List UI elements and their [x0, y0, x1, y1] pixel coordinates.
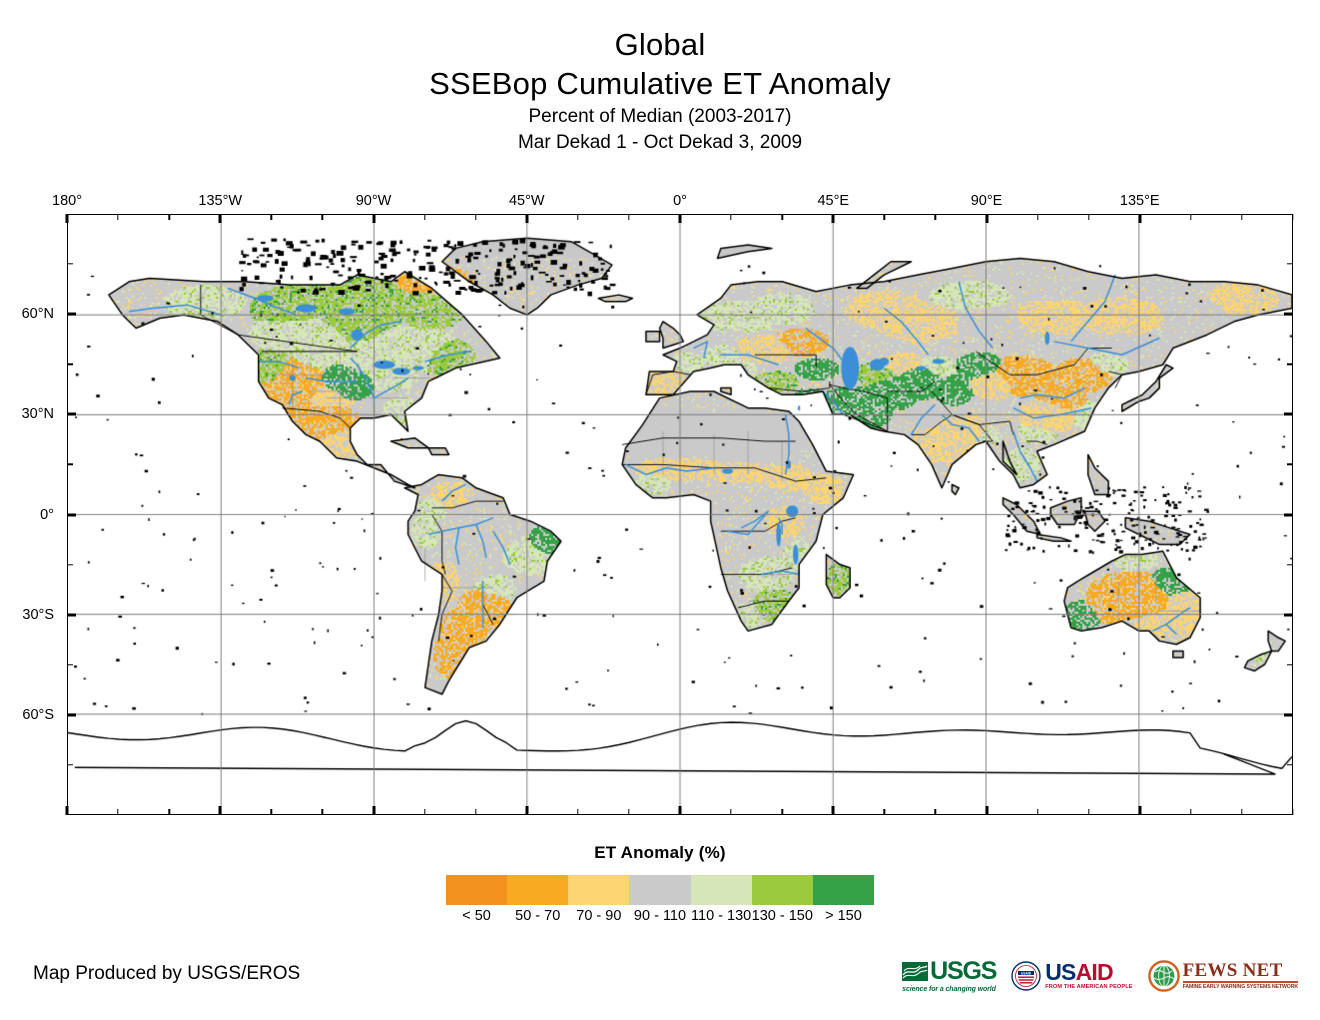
legend-label-2: 70 - 90 [576, 908, 621, 924]
legend-swatch-3 [629, 875, 691, 905]
lon-minor-tick [1190, 809, 1191, 815]
usaid-tagline: FROM THE AMERICAN PEOPLE [1045, 985, 1132, 991]
page-title-line2: SSEBop Cumulative ET Anomaly [0, 64, 1320, 104]
lon-major-tick [219, 806, 222, 815]
legend-label-3: 90 - 110 [634, 908, 686, 924]
lon-label-0: 180° [52, 193, 82, 209]
lon-major-tick [832, 214, 835, 223]
lat-minor-tick [1287, 664, 1293, 665]
page-subtitle-period: Percent of Median (2003-2017) [0, 104, 1320, 130]
lon-label-5: 45°E [817, 193, 849, 209]
legend-swatch-5 [752, 875, 814, 905]
lon-minor-tick [628, 214, 629, 220]
lon-minor-tick [628, 809, 629, 815]
legend-swatch-1 [507, 875, 569, 905]
lon-minor-tick [475, 214, 476, 220]
fews-net-tagline: FAMINE EARLY WARNING SYSTEMS NETWORK [1183, 985, 1298, 990]
lat-major-tick [67, 613, 76, 616]
page-subtitle-dates: Mar Dekad 1 - Oct Dekad 3, 2009 [0, 130, 1320, 155]
lon-minor-tick [271, 809, 272, 815]
lat-minor-tick [67, 764, 73, 765]
svg-text:USAID: USAID [1021, 971, 1032, 975]
legend-title: ET Anomaly (%) [0, 843, 1320, 863]
lon-minor-tick [935, 809, 936, 815]
map-frame[interactable] [67, 214, 1293, 815]
agency-logos: USGS science for a changing world USAID … [902, 955, 1298, 997]
lon-minor-tick [1292, 809, 1293, 815]
usaid-logo[interactable]: USAID USAID FROM THE AMERICAN PEOPLE [1011, 960, 1132, 992]
legend-swatch-2 [568, 875, 630, 905]
lon-minor-tick [781, 809, 782, 815]
lon-major-tick [525, 214, 528, 223]
lon-minor-tick [168, 809, 169, 815]
legend-swatch-6 [813, 875, 875, 905]
lon-minor-tick [1292, 214, 1293, 220]
lon-major-tick [372, 214, 375, 223]
lon-minor-tick [730, 214, 731, 220]
fews-net-logo[interactable]: FEWS NET FAMINE EARLY WARNING SYSTEMS NE… [1148, 960, 1298, 992]
lon-minor-tick [117, 214, 118, 220]
lat-major-tick [1284, 713, 1293, 716]
lon-label-1: 135°W [198, 193, 242, 209]
lon-minor-tick [424, 809, 425, 815]
lat-minor-tick [67, 664, 73, 665]
legend-label-0: < 50 [462, 908, 491, 924]
map-credit: Map Produced by USGS/EROS [33, 963, 300, 985]
lat-major-tick [1284, 313, 1293, 316]
lat-major-tick [67, 413, 76, 416]
lat-label-1: 30°N [0, 406, 54, 422]
lon-major-tick [219, 214, 222, 223]
lat-minor-tick [67, 263, 73, 264]
title-block: Global SSEBop Cumulative ET Anomaly Perc… [0, 26, 1320, 155]
usgs-wave-icon [902, 962, 928, 981]
lon-minor-tick [1190, 214, 1191, 220]
lon-label-6: 90°E [971, 193, 1003, 209]
lon-minor-tick [271, 214, 272, 220]
lon-major-tick [1138, 806, 1141, 815]
lat-minor-tick [1287, 364, 1293, 365]
lat-major-tick [1284, 613, 1293, 616]
lon-minor-tick [322, 214, 323, 220]
lon-minor-tick [1088, 809, 1089, 815]
lon-label-2: 90°W [356, 193, 392, 209]
lon-minor-tick [884, 214, 885, 220]
lon-minor-tick [1037, 214, 1038, 220]
lat-label-2: 0° [0, 507, 54, 523]
lat-minor-tick [67, 464, 73, 465]
lon-minor-tick [935, 214, 936, 220]
lat-label-3: 30°S [0, 607, 54, 623]
lon-major-tick [1138, 214, 1141, 223]
lat-label-0: 60°N [0, 306, 54, 322]
legend: ET Anomaly (%) < 5050 - 7070 - 9090 - 11… [0, 843, 1320, 928]
lat-major-tick [67, 513, 76, 516]
lon-minor-tick [730, 809, 731, 815]
lat-label-4: 60°S [0, 707, 54, 723]
legend-label-6: > 150 [825, 908, 862, 924]
lon-major-tick [525, 806, 528, 815]
legend-label-5: 130 - 150 [752, 908, 813, 924]
legend-swatch-0 [446, 875, 508, 905]
lat-minor-tick [1287, 764, 1293, 765]
legend-class-labels: < 5050 - 7070 - 9090 - 110110 - 130130 -… [446, 908, 874, 928]
world-anomaly-raster[interactable] [68, 215, 1292, 814]
lon-minor-tick [577, 809, 578, 815]
lon-major-tick [985, 214, 988, 223]
page-title-line1: Global [0, 26, 1320, 64]
usgs-tagline: science for a changing world [902, 986, 996, 993]
usgs-logo[interactable]: USGS science for a changing world [902, 959, 996, 993]
usaid-seal-icon: USAID [1011, 960, 1041, 992]
lat-minor-tick [67, 564, 73, 565]
lon-major-tick [679, 214, 682, 223]
lon-minor-tick [1241, 809, 1242, 815]
fews-globe-icon [1148, 960, 1180, 992]
lat-major-tick [1284, 413, 1293, 416]
usgs-wordmark: USGS [930, 959, 996, 984]
lon-label-4: 0° [673, 193, 687, 209]
lon-major-tick [66, 806, 69, 815]
lon-minor-tick [781, 214, 782, 220]
lon-minor-tick [424, 214, 425, 220]
lon-minor-tick [322, 809, 323, 815]
lat-minor-tick [1287, 564, 1293, 565]
lon-minor-tick [1241, 214, 1242, 220]
lat-major-tick [1284, 513, 1293, 516]
legend-swatch-4 [691, 875, 753, 905]
legend-label-1: 50 - 70 [515, 908, 560, 924]
lon-minor-tick [117, 809, 118, 815]
lon-major-tick [679, 806, 682, 815]
lon-minor-tick [168, 214, 169, 220]
lon-major-tick [832, 806, 835, 815]
lon-major-tick [372, 806, 375, 815]
usaid-wordmark: USAID [1045, 961, 1132, 984]
lat-major-tick [67, 713, 76, 716]
lat-minor-tick [67, 364, 73, 365]
legend-label-4: 110 - 130 [691, 908, 751, 924]
lon-minor-tick [475, 809, 476, 815]
lat-minor-tick [1287, 263, 1293, 264]
lon-minor-tick [1088, 214, 1089, 220]
legend-color-bar [446, 875, 874, 905]
lat-major-tick [67, 313, 76, 316]
lon-major-tick [66, 214, 69, 223]
fews-net-wordmark: FEWS NET [1183, 961, 1298, 983]
lon-label-3: 45°W [509, 193, 545, 209]
lon-minor-tick [1037, 809, 1038, 815]
lon-minor-tick [577, 214, 578, 220]
lat-minor-tick [1287, 464, 1293, 465]
lon-minor-tick [884, 809, 885, 815]
lon-label-7: 135°E [1120, 193, 1160, 209]
lon-major-tick [985, 806, 988, 815]
